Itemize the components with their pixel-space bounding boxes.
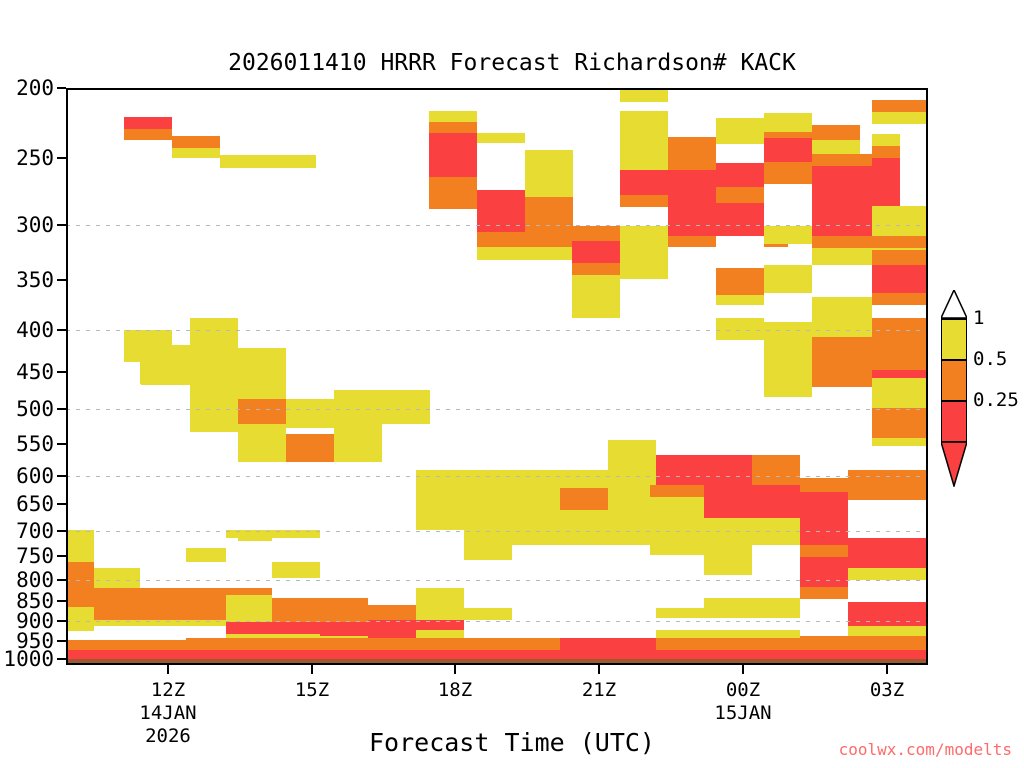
heatmap-cell	[66, 607, 94, 617]
heatmap-cell	[620, 305, 668, 315]
x-axis-tick-label: 03Z	[870, 679, 904, 701]
heatmap-cell	[848, 470, 928, 500]
heatmap-cell	[512, 638, 560, 650]
heatmap-cell	[334, 390, 430, 400]
y-axis-tick-label: 350	[0, 268, 54, 292]
x-axis-tick-label: 00Z	[726, 679, 760, 701]
heatmap-cell	[238, 348, 286, 399]
heatmap-cell	[572, 241, 620, 263]
y-axis-tick	[57, 279, 66, 281]
colorbar-top-arrow-outline	[941, 290, 967, 319]
heatmap-cell	[812, 265, 860, 295]
heatmap-cell	[477, 247, 573, 260]
source-credit: coolwx.com/modelts	[839, 740, 1012, 759]
heatmap-cell	[716, 144, 764, 163]
heatmap-cell	[286, 399, 334, 408]
y-axis-tick	[57, 87, 66, 89]
heatmap-cell	[66, 540, 94, 562]
x-axis-tick	[598, 665, 600, 674]
x-axis-tick-label: 18Z	[438, 679, 472, 701]
heatmap-cell	[812, 154, 872, 166]
chart-title: 2026011410 HRRR Forecast Richardson# KAC…	[0, 50, 1024, 76]
heatmap-cell	[477, 133, 525, 143]
heatmap-cell	[704, 518, 800, 546]
heatmap-cell	[872, 250, 928, 265]
heatmap-cell	[764, 226, 812, 244]
heatmap-cell	[464, 638, 512, 650]
heatmap-cell	[716, 118, 764, 144]
heatmap-cell	[716, 268, 764, 295]
heatmap-cell	[900, 154, 928, 206]
colorbar-tick	[941, 359, 967, 361]
heatmap-cell	[464, 608, 512, 620]
heatmap-cell	[525, 150, 573, 197]
y-axis-tick-label: 650	[0, 492, 54, 516]
heatmap-cell	[464, 530, 560, 545]
heatmap-cell	[764, 113, 812, 132]
y-axis-tick	[57, 555, 66, 557]
heatmap-cell	[66, 650, 928, 659]
heatmap-cell	[572, 226, 620, 241]
heatmap-cell	[716, 163, 764, 187]
colorbar-label: 1	[973, 307, 984, 329]
heatmap-cell	[716, 203, 764, 236]
gridline-horizontal	[66, 621, 928, 622]
heatmap-cell	[800, 545, 848, 557]
heatmap-cell	[272, 562, 320, 578]
heatmap-cell	[512, 470, 560, 502]
heatmap-cell	[812, 297, 872, 337]
heatmap-cell	[800, 636, 928, 650]
heatmap-cell	[320, 622, 368, 636]
heatmap-cell	[560, 638, 656, 650]
x-axis-tick-label: 21Z	[582, 679, 616, 701]
heatmap-cell	[66, 617, 94, 631]
heatmap-cell	[94, 568, 140, 590]
heatmap-cell	[512, 626, 560, 638]
x-axis-tick	[311, 665, 313, 674]
heatmap-cell	[608, 440, 656, 470]
x-axis-date-label: 14JAN	[139, 702, 196, 724]
heatmap-cell	[560, 470, 608, 488]
heatmap-cell	[752, 455, 800, 485]
x-axis-tick	[454, 665, 456, 674]
heatmap-cell	[650, 485, 704, 497]
heatmap-cell	[172, 148, 220, 158]
heatmap-cell	[326, 638, 466, 650]
y-axis-tick	[57, 640, 66, 642]
heatmap-cell	[525, 219, 573, 242]
heatmap-cell	[872, 112, 928, 124]
heatmap-cell	[464, 560, 512, 572]
y-axis-tick	[57, 224, 66, 226]
heatmap-cell	[368, 595, 416, 605]
heatmap-cell	[620, 153, 668, 170]
richardson-number-colorbar: 10.50.25	[941, 318, 967, 443]
heatmap-cell	[872, 158, 900, 206]
heatmap-cell	[620, 279, 668, 289]
heatmap-cell	[872, 100, 928, 112]
x-axis-tick-label: 12Z	[151, 679, 185, 701]
heatmap-cell	[812, 387, 872, 409]
heatmap-cell	[429, 177, 477, 209]
heatmap-cell	[124, 117, 172, 129]
heatmap-cell	[668, 265, 716, 295]
heatmap-cell	[620, 88, 668, 102]
y-axis-tick-label: 550	[0, 432, 54, 456]
heatmap-cell	[800, 492, 848, 552]
heatmap-cell	[620, 195, 668, 207]
heatmap-cell	[812, 236, 872, 248]
heatmap-cell	[656, 630, 800, 638]
heatmap-cell	[560, 630, 656, 638]
y-axis-tick	[57, 658, 66, 660]
heatmap-cell	[620, 170, 668, 195]
heatmap-cell	[716, 236, 764, 268]
heatmap-cell	[464, 502, 512, 530]
heatmap-cell	[872, 293, 928, 305]
heatmap-cell	[800, 478, 848, 492]
gridline-horizontal	[66, 531, 928, 532]
y-axis-tick-label: 500	[0, 397, 54, 421]
heatmap-cell	[800, 587, 848, 599]
heatmap-cell	[656, 455, 752, 485]
heatmap-cell	[186, 638, 326, 650]
heatmap-cell	[416, 470, 464, 502]
x-axis-tick	[886, 665, 888, 674]
heatmap-cell	[764, 184, 812, 226]
y-axis-tick	[57, 579, 66, 581]
ground-band	[66, 659, 928, 665]
y-axis-tick	[57, 329, 66, 331]
colorbar-tick	[941, 318, 967, 320]
heatmap-cell	[620, 244, 668, 279]
heatmap-cell	[66, 640, 186, 650]
heatmap-cell	[382, 399, 430, 424]
heatmap-cell	[872, 408, 928, 438]
heatmap-cell	[848, 500, 928, 538]
heatmap-cell	[848, 538, 928, 568]
colorbar-bottom-arrow	[941, 441, 967, 487]
y-axis-tick	[57, 503, 66, 505]
y-axis-tick	[57, 371, 66, 373]
heatmap-cell	[620, 102, 668, 111]
heatmap-cell	[872, 134, 900, 146]
heatmap-cell	[66, 562, 94, 590]
heatmap-cell	[172, 300, 220, 312]
x-axis-tick	[167, 665, 169, 674]
heatmap-cell	[872, 146, 900, 158]
heatmap-cell	[238, 462, 286, 470]
heatmap-cell	[170, 560, 226, 580]
y-axis-tick-label: 200	[0, 76, 54, 100]
y-axis-tick-label: 750	[0, 544, 54, 568]
heatmap-cell	[124, 129, 172, 140]
y-axis-tick	[57, 408, 66, 410]
heatmap-cell	[238, 399, 286, 424]
y-axis-tick-label: 300	[0, 213, 54, 237]
colorbar-segment	[941, 318, 967, 359]
y-axis-tick	[57, 475, 66, 477]
heatmap-cell	[848, 626, 928, 636]
heatmap-cell	[764, 265, 812, 293]
heatmap-cell	[186, 548, 226, 562]
heatmap-cell	[668, 247, 716, 265]
heatmap-cell	[656, 440, 704, 455]
heatmap-cell	[872, 337, 928, 370]
heatmap-cell	[220, 155, 316, 168]
heatmap-cell	[560, 488, 608, 510]
heatmap-cell	[429, 111, 477, 122]
heatmap-plot-area	[66, 88, 928, 665]
heatmap-cell	[812, 140, 860, 154]
heatmap-cell	[429, 122, 477, 133]
heatmap-cell	[656, 638, 800, 650]
heatmap-cell	[429, 133, 477, 177]
heatmap-cell	[512, 502, 560, 530]
heatmap-cell	[848, 580, 928, 602]
heatmap-cell	[764, 322, 812, 397]
colorbar-label: 0.25	[973, 389, 1019, 411]
heatmap-cell	[716, 318, 764, 340]
y-axis-tick-label: 400	[0, 318, 54, 342]
gridline-horizontal	[66, 225, 928, 226]
gridline-horizontal	[66, 476, 928, 477]
y-axis-tick-label: 250	[0, 146, 54, 170]
heatmap-cell	[238, 424, 286, 462]
heatmap-cell	[226, 598, 272, 623]
heatmap-cell	[572, 275, 620, 318]
heatmap-cell	[872, 318, 928, 338]
heatmap-cell	[848, 568, 928, 580]
x-axis-tick	[742, 665, 744, 674]
heatmap-cell	[477, 150, 525, 190]
heatmap-cell	[141, 360, 190, 386]
heatmap-cell	[716, 187, 764, 203]
heatmap-cell	[416, 588, 464, 602]
y-axis-tick-label: 700	[0, 519, 54, 543]
heatmap-cell	[656, 608, 800, 618]
y-axis-tick	[57, 620, 66, 622]
y-axis-tick	[57, 443, 66, 445]
heatmap-cell	[872, 438, 928, 446]
y-axis-tick	[57, 530, 66, 532]
heatmap-cell	[650, 497, 704, 555]
heatmap-cell	[800, 557, 848, 587]
heatmap-cell	[572, 263, 620, 275]
heatmap-cell	[872, 265, 928, 293]
heatmap-cell	[464, 620, 512, 638]
heatmap-cell	[620, 226, 668, 244]
heatmap-cell	[226, 622, 320, 634]
y-axis-tick-label: 1000	[0, 647, 54, 671]
heatmap-cell	[872, 206, 928, 236]
gridline-horizontal	[66, 409, 928, 410]
gridline-horizontal	[66, 330, 928, 331]
heatmap-cell	[286, 434, 334, 462]
heatmap-cell	[764, 138, 812, 162]
colorbar-label: 0.5	[973, 348, 1007, 370]
heatmap-cell	[368, 620, 416, 638]
y-axis-tick	[57, 600, 66, 602]
heatmap-cell	[872, 378, 928, 408]
colorbar-segment	[941, 359, 967, 400]
y-axis-tick	[57, 157, 66, 159]
heatmap-cell	[416, 502, 464, 530]
heatmap-cell	[872, 370, 928, 378]
y-axis-tick-label: 450	[0, 360, 54, 384]
heatmap-cell	[812, 125, 860, 140]
heatmap-cell	[190, 386, 238, 408]
heatmap-cell	[764, 162, 812, 184]
heatmap-cell	[872, 124, 900, 134]
y-axis-tick-label: 600	[0, 464, 54, 488]
heatmap-cell	[464, 470, 512, 502]
gridline-horizontal	[66, 580, 928, 581]
heatmap-cell	[716, 295, 764, 305]
heatmap-cell	[172, 136, 220, 148]
x-axis-tick-label: 15Z	[295, 679, 329, 701]
colorbar-tick	[941, 400, 967, 402]
heatmap-cell	[416, 600, 464, 620]
heatmap-cell	[704, 545, 752, 575]
colorbar-segment	[941, 400, 967, 441]
heatmap-cell	[608, 470, 656, 530]
heatmap-cell	[141, 385, 190, 399]
heatmap-cell	[320, 565, 368, 573]
heatmap-cell	[464, 596, 512, 608]
heatmap-cell	[752, 545, 800, 555]
chart-canvas: 2026011410 HRRR Forecast Richardson# KAC…	[0, 0, 1024, 768]
heatmap-cell	[620, 137, 668, 153]
heatmap-cell	[94, 536, 140, 546]
x-axis-date-label: 15JAN	[714, 702, 771, 724]
heatmap-cell	[560, 510, 608, 530]
